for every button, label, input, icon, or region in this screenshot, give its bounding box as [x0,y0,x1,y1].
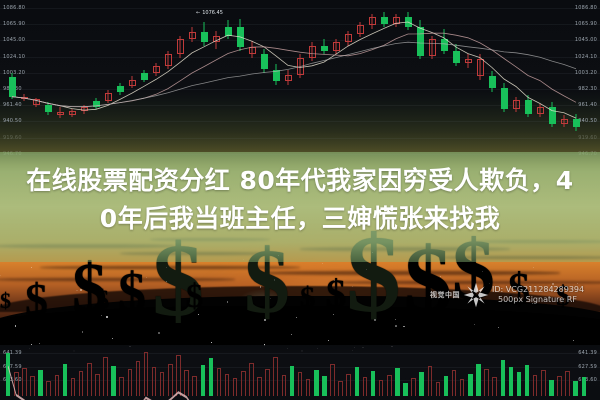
sparkle-speck [76,290,78,292]
sparkle-speck [352,286,353,287]
sparkle-speck [227,301,228,302]
sparkle-speck [403,326,405,328]
annotation-arrow-icon: ← [196,10,200,16]
volume-average-line [8,366,584,400]
starburst-icon [463,282,489,308]
moving-average-line [12,33,576,107]
sparkle-speck [395,325,397,327]
dollar-sign-icon: $ [300,286,315,309]
moving-average-lines [0,0,600,165]
moving-average-line [12,22,576,118]
sparkle-speck [80,289,81,290]
sparkle-speck [82,331,83,332]
sparkle-speck [270,298,271,299]
headline-line-2: 0年后我当班主任，三婶慌张来找我 [0,200,600,238]
dollar-sign-icon: $ [96,290,109,310]
sparkle-speck [260,286,262,288]
screenshot-root: $$$$$$$$$$$$$$$ 1086.801065.901045.00102… [0,0,600,400]
sparkle-speck [366,269,367,270]
sparkle-speck [334,280,335,281]
dollar-sign-icon: $ [0,292,11,309]
sparkle-speck [322,263,323,264]
dollar-sign-icon: $ [186,284,203,311]
sparkle-speck [166,281,167,282]
watermark-license: 500px Signature RF [492,295,584,305]
vcg-watermark: 视觉中国 ID: VCG211284289394 500px Signature… [430,282,584,308]
sparkle-speck [112,338,113,339]
sparkle-speck [211,342,212,343]
dollar-sign-icon: $ [118,272,146,316]
sparkle-speck [440,276,441,277]
headline-line-1: 在线股票配资分红 80年代我家因穷受人欺负，4 [0,162,600,200]
sparkle-speck [482,271,483,272]
watermark-id: ID: VCG211284289394 [492,285,584,295]
sparkle-speck [374,319,375,320]
sparkle-speck [101,315,102,316]
volume-bar-chart: 641.39627.59613.60 641.39627.59613.60 [0,345,600,400]
sparkle-speck [274,279,276,281]
headline-text: 在线股票配资分红 80年代我家因穷受人欺负，4 0年后我当班主任，三婶慌张来找我 [0,162,600,238]
moving-average-line [12,42,576,107]
sparkle-speck [39,343,40,344]
sparkle-speck [31,267,32,268]
sparkle-speck [264,319,266,321]
sparkle-speck [166,267,167,268]
annotation-value: 1076.45 [202,10,223,16]
dollar-sign-icon: $ [25,282,48,318]
dollar-sign-icon: $ [326,278,346,309]
price-annotation: ←1076.45 [196,10,223,16]
price-candlestick-chart: 1086.801065.901045.001024.101003.20982.3… [0,0,600,165]
sparkle-speck [395,319,396,320]
volume-average-line [0,345,600,400]
sparkle-speck [533,267,534,268]
vcg-brand-label: 视觉中国 [430,290,460,300]
watermark-text-lines: ID: VCG211284289394 500px Signature RF [492,285,584,305]
